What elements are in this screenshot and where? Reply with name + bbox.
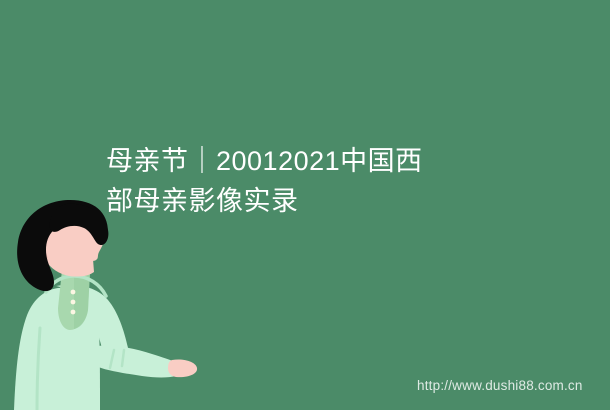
collar-button [71,310,76,315]
watermark-url: http://www.dushi88.com.cn [417,378,583,394]
collar-button [71,300,76,305]
arm [92,345,197,377]
title-line-1: 母亲节｜20012021中国西 [106,141,506,181]
page-title: 母亲节｜20012021中国西 部母亲影像实录 [106,141,506,221]
title-line-2: 部母亲影像实录 [106,181,506,221]
collar-button [71,290,76,295]
person-illustration [0,200,200,410]
hand [168,359,197,377]
banner-image: 母亲节｜20012021中国西 部母亲影像实录 http://www.dushi… [0,0,610,410]
